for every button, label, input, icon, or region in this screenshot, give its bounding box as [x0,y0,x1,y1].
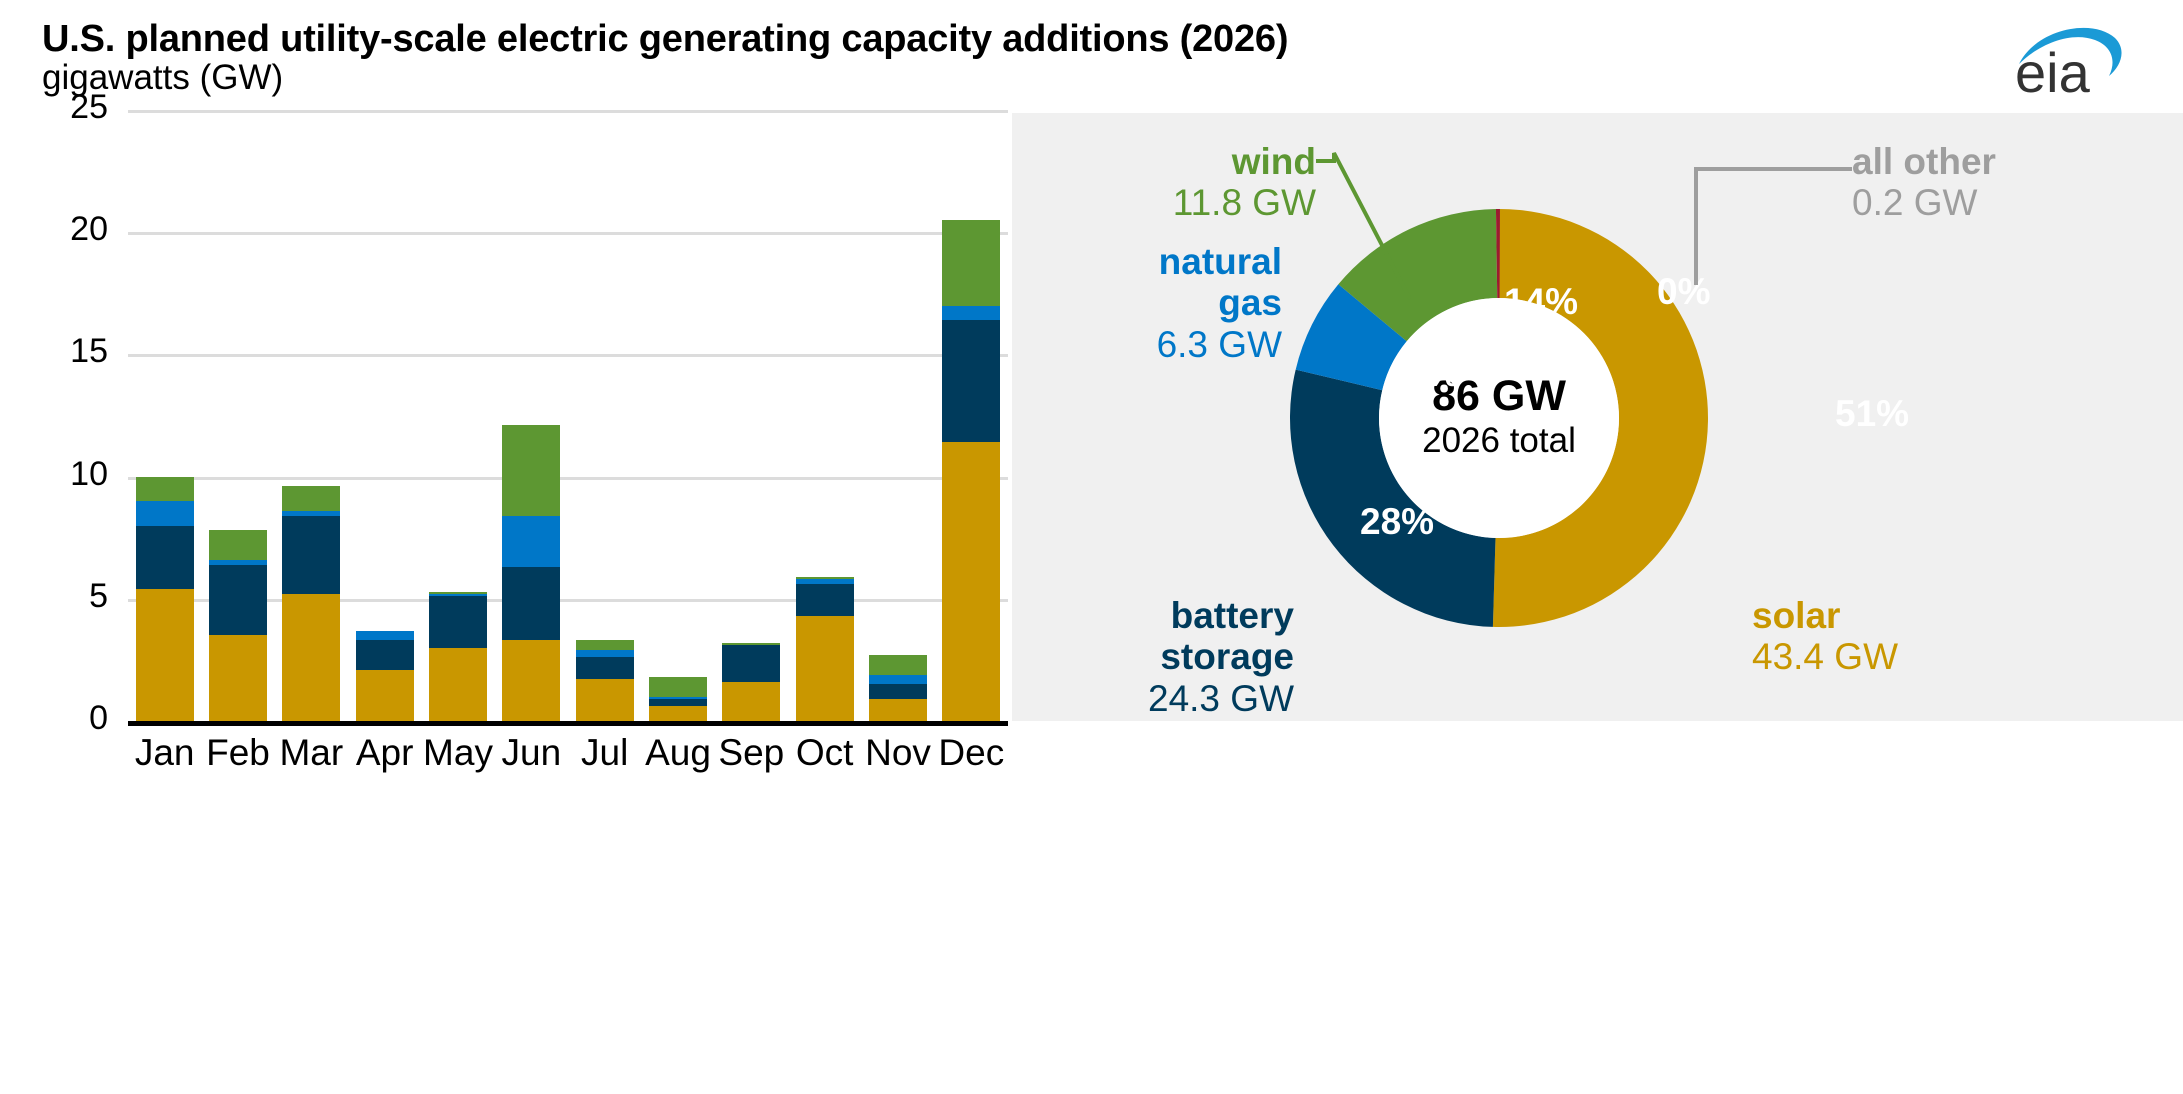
bar-segment-wind [942,220,1000,306]
bar-segment-natural-gas [576,650,634,657]
donut-label-natural-gas-value: 6.3 GW [1157,324,1282,365]
y-axis-tick-label: 10 [0,457,108,491]
y-axis-tick-label: 5 [0,579,108,613]
x-axis-tick-label: Nov [860,732,936,774]
bar-segment-battery-storage [796,584,854,616]
donut-label-solar: solar 43.4 GW [1752,595,2052,678]
bar-segment-battery-storage [356,640,414,669]
x-axis-tick-label: Mar [273,732,349,774]
stacked-bar[interactable] [209,530,267,721]
donut-label-solar-value: 43.4 GW [1752,636,1898,677]
stacked-bar[interactable] [722,643,780,721]
stacked-bar[interactable] [282,486,340,721]
bar-segment-battery-storage [209,565,267,636]
bar-segment-battery-storage [722,645,780,682]
chart-header: U.S. planned utility-scale electric gene… [0,0,2183,112]
donut-label-natural-gas-name1: natural [1159,241,1282,282]
bar-segment-solar [796,616,854,721]
donut-label-solar-name: solar [1752,595,1840,636]
bar-segment-natural-gas [942,306,1000,321]
x-axis-tick-label: Feb [200,732,276,774]
y-axis-tick-label: 15 [0,334,108,368]
donut-label-battery-storage: battery storage 24.3 GW [1022,595,1294,719]
x-axis-tick-label: Dec [933,732,1009,774]
x-axis-tick-label: Jul [567,732,643,774]
svg-text:eia: eia [2015,41,2091,96]
donut-label-wind: wind 11.8 GW [1090,141,1316,224]
donut-percent-battery: 28% [1360,501,1434,543]
donut-label-natural-gas: natural gas 6.3 GW [1022,241,1282,365]
x-axis-tick-label: Aug [640,732,716,774]
donut-label-all-other: all other 0.2 GW [1852,141,2152,224]
bar-segment-natural-gas [136,501,194,525]
donut-label-natural-gas-name2: gas [1218,282,1282,323]
donut-summary-panel: 86 GW 2026 total 51% 28% 7% 14% 0% wind … [1012,113,2183,721]
bar-segment-wind [869,655,927,675]
donut-label-battery-name2: storage [1160,636,1294,677]
donut-label-wind-name: wind [1232,141,1316,182]
stacked-bar[interactable] [576,640,634,721]
bar-segment-wind [282,486,340,510]
donut-label-wind-value: 11.8 GW [1173,182,1316,223]
bar-segment-wind [502,425,560,515]
y-axis-tick-label: 20 [0,212,108,246]
donut-label-battery-name1: battery [1171,595,1294,636]
x-axis-tick-label: Sep [713,732,789,774]
bar-segment-battery-storage [136,526,194,590]
stacked-bar[interactable] [796,577,854,721]
bar-segment-solar [576,679,634,721]
y-axis-tick-label: 25 [0,90,108,124]
bar-segment-solar [722,682,780,721]
stacked-bar-chart: 0510152025 JanFebMarAprMayJunJulAugSepOc… [0,110,1015,1010]
bar-segment-battery-storage [282,516,340,594]
leader-line-wind [1312,147,1522,327]
bars-plot-area: JanFebMarAprMayJunJulAugSepOctNovDec [128,110,1008,721]
bar-segment-battery-storage [869,684,927,699]
bar-segment-battery-storage [502,567,560,640]
bar-segment-battery-storage [649,699,707,706]
x-axis-tick-label: Oct [787,732,863,774]
bar-segment-solar [649,706,707,721]
y-axis-tick-label: 0 [0,701,108,735]
stacked-bar[interactable] [136,477,194,721]
bar-segment-natural-gas [502,516,560,567]
bar-segment-wind [649,677,707,697]
stacked-bar[interactable] [869,655,927,721]
bar-segment-solar [356,670,414,721]
page-title: U.S. planned utility-scale electric gene… [42,18,1288,61]
bar-segment-solar [869,699,927,721]
bar-segment-solar [282,594,340,721]
bar-segment-solar [209,635,267,721]
eia-logo-icon: eia [2001,14,2131,96]
bar-segment-solar [502,640,560,721]
bar-segment-wind [209,530,267,559]
x-axis-tick-label: Jan [127,732,203,774]
x-axis-line [128,721,1008,726]
bar-segment-battery-storage [429,596,487,647]
donut-label-all-other-name: all other [1852,141,1996,182]
donut-percent-gas: 7% [1406,353,1459,395]
bar-segment-battery-storage [942,320,1000,442]
bar-segment-solar [136,589,194,721]
bar-segment-natural-gas [356,631,414,641]
bar-segment-solar [429,648,487,721]
bar-segment-natural-gas [869,675,927,685]
stacked-bar[interactable] [502,425,560,721]
x-axis-tick-label: May [420,732,496,774]
stacked-bar[interactable] [942,220,1000,721]
x-axis-tick-label: Jun [493,732,569,774]
stacked-bar[interactable] [429,592,487,722]
x-axis-tick-label: Apr [347,732,423,774]
stacked-bar[interactable] [356,631,414,721]
bar-segment-battery-storage [576,657,634,679]
donut-label-battery-value: 24.3 GW [1148,678,1294,719]
donut-percent-solar: 51% [1835,393,1909,435]
leader-line-all-other [1672,151,1872,291]
bar-segment-solar [942,442,1000,721]
bar-segment-wind [576,640,634,650]
stacked-bar[interactable] [649,677,707,721]
bar-segment-wind [136,477,194,501]
